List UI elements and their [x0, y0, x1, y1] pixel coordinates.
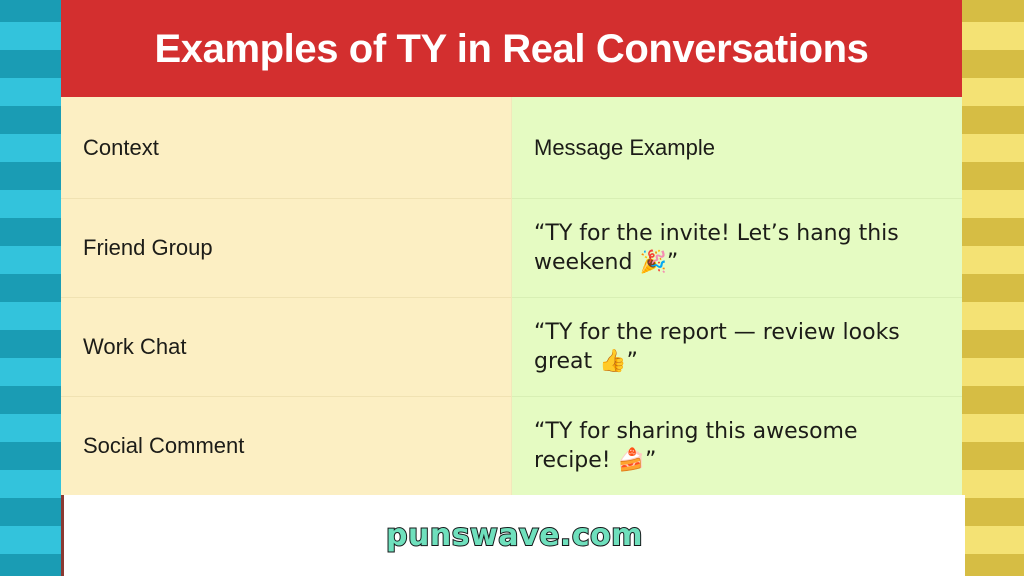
message-example-text: “TY for sharing this awesome recipe! 🍰” — [534, 417, 940, 475]
table-header-row: Context Message Example — [61, 97, 962, 198]
table-cell-message: “TY for sharing this awesome recipe! 🍰” — [512, 396, 962, 495]
table-row: Work Chat “TY for the report — review lo… — [61, 297, 962, 396]
table-cell-context: Friend Group — [61, 198, 512, 297]
header-banner: Examples of TY in Real Conversations — [61, 0, 962, 97]
poster-canvas: Examples of TY in Real Conversations Con… — [0, 0, 1024, 576]
context-label: Social Comment — [83, 431, 244, 460]
column-header-message: Message Example — [534, 133, 715, 162]
page-title: Examples of TY in Real Conversations — [155, 28, 869, 70]
column-header-context: Context — [83, 133, 159, 162]
right-decorative-wave-strip — [962, 0, 1024, 576]
wave-shape — [962, 554, 1024, 576]
table-header-cell-message: Message Example — [512, 97, 962, 198]
left-decorative-wave-strip — [0, 0, 61, 576]
table-row: Friend Group “TY for the invite! Let’s h… — [61, 198, 962, 297]
context-label: Work Chat — [83, 332, 187, 361]
table-cell-message: “TY for the invite! Let’s hang this week… — [512, 198, 962, 297]
table-row: Social Comment “TY for sharing this awes… — [61, 396, 962, 495]
table-cell-context: Social Comment — [61, 396, 512, 495]
message-example-text: “TY for the report — review looks great … — [534, 318, 940, 376]
table-header-cell-context: Context — [61, 97, 512, 198]
context-label: Friend Group — [83, 233, 213, 262]
site-watermark: punswave.com — [386, 518, 643, 553]
examples-table: Context Message Example Friend Group “TY… — [61, 97, 962, 495]
wave-shape — [0, 554, 61, 576]
table-cell-context: Work Chat — [61, 297, 512, 396]
footer-area: punswave.com — [61, 495, 965, 576]
message-example-text: “TY for the invite! Let’s hang this week… — [534, 219, 940, 277]
table-cell-message: “TY for the report — review looks great … — [512, 297, 962, 396]
content-card: Examples of TY in Real Conversations Con… — [61, 0, 962, 576]
